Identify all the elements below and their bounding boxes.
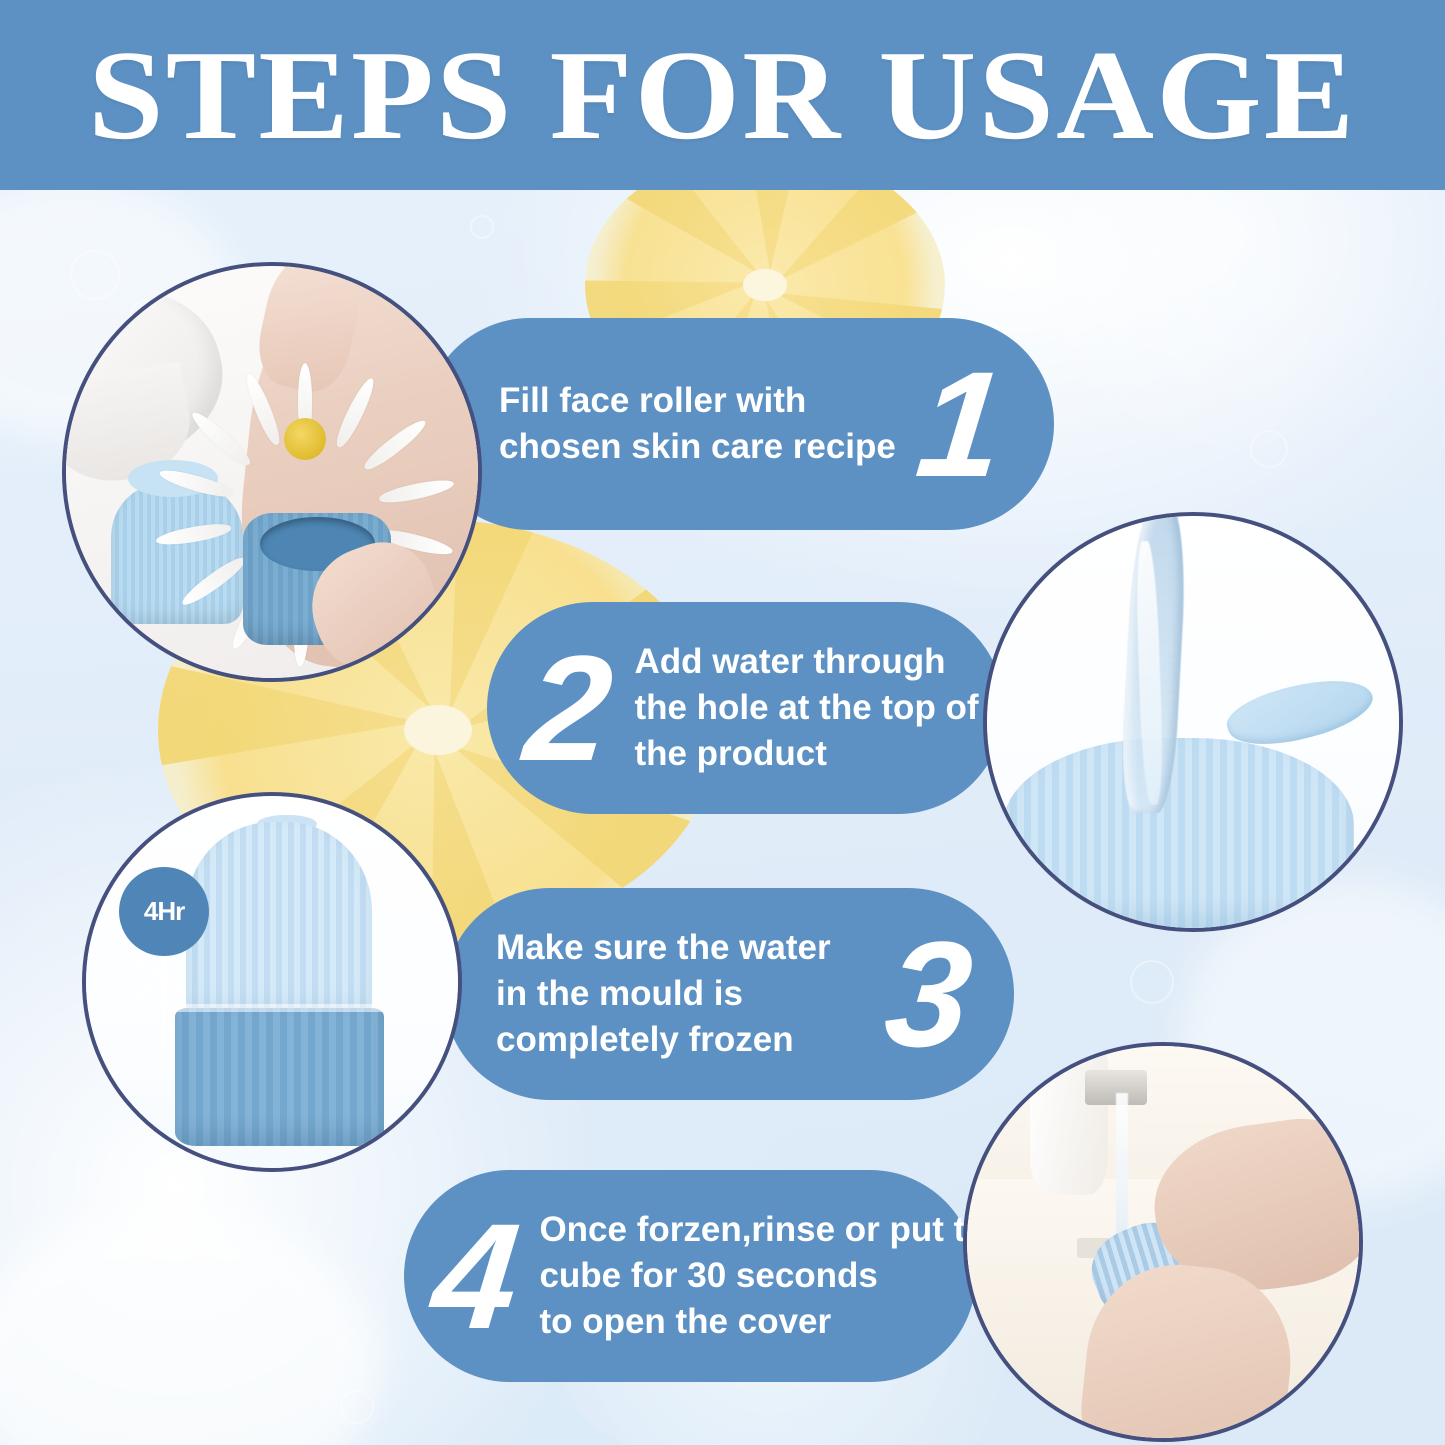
page-header: STEPS FOR USAGE bbox=[0, 0, 1445, 190]
step-1-text: Fill face roller with chosen skin care r… bbox=[499, 378, 896, 470]
step-4-number: 4 bbox=[426, 1201, 521, 1351]
photo4-faucet bbox=[1030, 1046, 1108, 1195]
step-4-photo bbox=[963, 1042, 1363, 1442]
step-2-number: 2 bbox=[519, 633, 614, 783]
freeze-time-label: 4Hr bbox=[144, 896, 184, 927]
photo3-mould-top bbox=[186, 822, 372, 1015]
bubble-3 bbox=[470, 215, 494, 239]
daisy-center bbox=[284, 418, 327, 461]
bubble-5 bbox=[340, 1390, 374, 1424]
bubble-4 bbox=[1250, 430, 1288, 468]
page-title: STEPS FOR USAGE bbox=[88, 31, 1356, 159]
step-2-pill: 2 Add water through the hole at the top … bbox=[487, 602, 1004, 814]
step-2-text: Add water through the hole at the top of… bbox=[634, 639, 978, 778]
step-1-number: 1 bbox=[911, 349, 1006, 499]
step-1-photo bbox=[62, 262, 482, 682]
step-4-pill: 4 Once forzen,rinse or put the cube for … bbox=[404, 1170, 976, 1382]
step-3-text: Make sure the water in the mould is comp… bbox=[496, 925, 831, 1064]
daisy-flower-icon bbox=[223, 357, 388, 522]
step-1-pill: Fill face roller with chosen skin care r… bbox=[424, 318, 1054, 530]
photo2-silicone-mould bbox=[1003, 738, 1353, 928]
step-4-text: Once forzen,rinse or put the cube for 30… bbox=[539, 1207, 1006, 1346]
step-3-number: 3 bbox=[879, 919, 974, 1069]
step-2-photo bbox=[983, 512, 1403, 932]
freeze-time-badge: 4Hr bbox=[119, 867, 208, 956]
step-3-photo: 4Hr bbox=[82, 792, 462, 1172]
photo3-mould-bottom bbox=[175, 1008, 383, 1146]
photo3-mould-seam bbox=[175, 1004, 383, 1011]
step-3-pill: Make sure the water in the mould is comp… bbox=[444, 888, 1014, 1100]
bubble-7 bbox=[1130, 960, 1174, 1004]
